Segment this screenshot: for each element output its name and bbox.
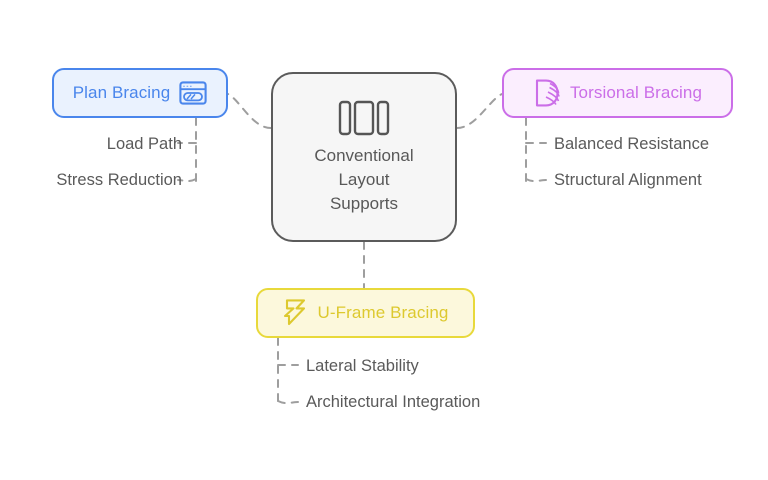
mindmap-canvas: Conventional Layout Supports Plan Bracin… [0,0,768,480]
branch-label-plan-bracing: Plan Bracing [73,83,171,103]
center-node[interactable]: Conventional Layout Supports [271,72,457,242]
radio-icon [179,80,207,106]
connector-uframe-to-architectural [278,401,298,403]
branch-node-uframe-bracing[interactable]: U-Frame Bracing [256,288,475,338]
leaf-label-structural-alignment: Structural Alignment [554,172,702,189]
leaf-label-lateral-stability: Lateral Stability [306,358,419,375]
leaf-label-balanced-resistance: Balanced Resistance [554,136,709,153]
zigzag-flag-icon [283,298,309,328]
leaf-label-stress-reduction: Stress Reduction [56,172,182,189]
connector-center-to-torsional [457,94,502,128]
leaf-label-load-path: Load Path [107,136,182,153]
connector-torsional-to-structural [526,179,546,181]
branch-node-torsional-bracing[interactable]: Torsional Bracing [502,68,733,118]
branch-node-plan-bracing[interactable]: Plan Bracing [52,68,228,118]
center-node-title: Conventional Layout Supports [314,144,413,216]
curled-page-icon [533,78,561,108]
columns-icon [338,98,390,138]
branch-label-torsional-bracing: Torsional Bracing [570,83,702,103]
leaf-label-architectural-integration: Architectural Integration [306,394,480,411]
connector-center-to-plan [228,94,271,128]
branch-label-uframe-bracing: U-Frame Bracing [318,303,449,323]
